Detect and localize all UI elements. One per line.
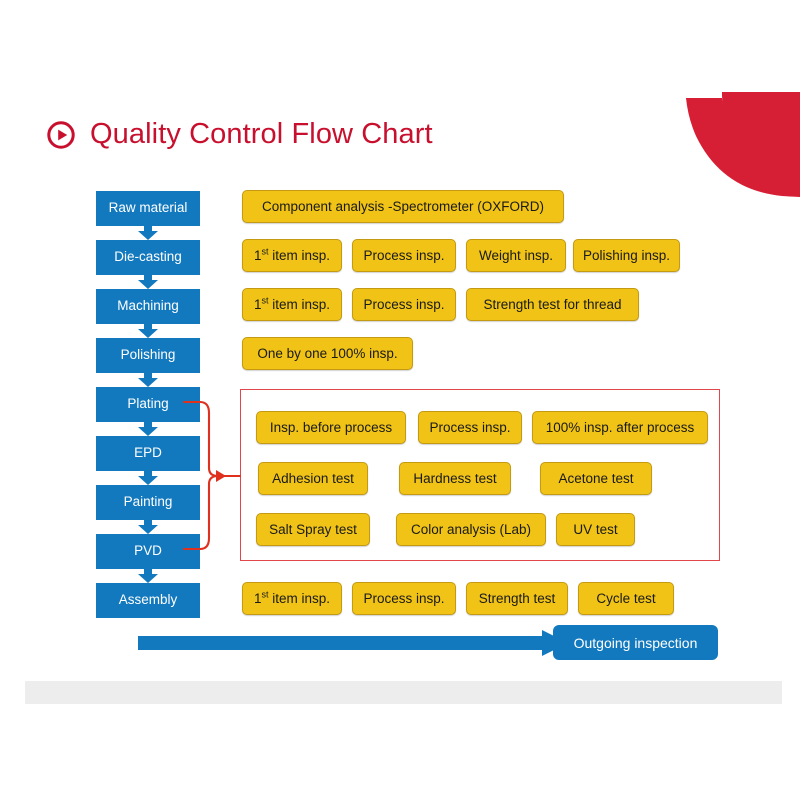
inspection-item: 1st item insp. (242, 582, 342, 615)
outgoing-flow-arrow (138, 630, 568, 656)
flow-down-arrow-icon (96, 569, 200, 583)
process-step-box: Machining (96, 289, 200, 324)
flow-down-arrow-icon (96, 324, 200, 338)
inspection-item: Process insp. (352, 288, 456, 321)
inspection-item-label: Component analysis -Spectrometer (OXFORD… (262, 199, 544, 214)
footer-bar (25, 681, 782, 704)
process-step-box: Die-casting (96, 240, 200, 275)
inspection-item-label: 1st item insp. (254, 248, 330, 263)
inspection-item: Component analysis -Spectrometer (OXFORD… (242, 190, 564, 223)
red-brace-connector (182, 386, 244, 566)
process-step-label: Plating (127, 397, 168, 411)
process-step-label: Die-casting (114, 250, 182, 264)
inspection-item-label: Strength test (479, 591, 556, 606)
process-step-label: PVD (134, 544, 162, 558)
outgoing-inspection-box: Outgoing inspection (553, 625, 718, 660)
inspection-item: Weight insp. (466, 239, 566, 272)
inspection-item: Cycle test (578, 582, 674, 615)
inspection-item: Process insp. (352, 239, 456, 272)
process-step-label: Assembly (119, 593, 178, 607)
process-step-assembly: Assembly (96, 583, 200, 618)
inspection-item-label: Weight insp. (479, 248, 553, 263)
outgoing-inspection-label: Outgoing inspection (574, 635, 698, 651)
process-step-die-casting: Die-casting (96, 240, 200, 289)
page-title-row: Quality Control Flow Chart (46, 118, 433, 151)
play-circle-icon (46, 120, 76, 150)
inspection-item-label: Polishing insp. (583, 248, 670, 263)
flow-down-arrow-icon (96, 275, 200, 289)
flow-down-arrow-icon (96, 373, 200, 387)
process-step-box: Polishing (96, 338, 200, 373)
inspection-item-label: One by one 100% insp. (257, 346, 397, 361)
inspection-item-label: Strength test for thread (483, 297, 621, 312)
coating-test-group-box (240, 389, 720, 561)
inspection-item: One by one 100% insp. (242, 337, 413, 370)
inspection-item: Process insp. (352, 582, 456, 615)
process-step-box: Assembly (96, 583, 200, 618)
red-corner-arc-decoration (682, 92, 800, 197)
process-step-raw-material: Raw material (96, 191, 200, 240)
process-step-box: Raw material (96, 191, 200, 226)
process-step-label: EPD (134, 446, 162, 460)
inspection-item: Strength test (466, 582, 568, 615)
process-step-machining: Machining (96, 289, 200, 338)
inspection-item: Polishing insp. (573, 239, 680, 272)
process-step-label: Polishing (121, 348, 176, 362)
inspection-item-label: Cycle test (596, 591, 655, 606)
inspection-item-label: Process insp. (363, 248, 444, 263)
inspection-item-label: Process insp. (363, 591, 444, 606)
inspection-item: 1st item insp. (242, 288, 342, 321)
process-step-label: Raw material (109, 201, 188, 215)
process-step-polishing: Polishing (96, 338, 200, 387)
flow-down-arrow-icon (96, 226, 200, 240)
page-title: Quality Control Flow Chart (90, 118, 433, 151)
inspection-item-label: Process insp. (363, 297, 444, 312)
slide-canvas: Quality Control Flow Chart Raw materialD… (0, 0, 800, 800)
process-step-label: Painting (124, 495, 173, 509)
inspection-item-label: 1st item insp. (254, 297, 330, 312)
process-step-label: Machining (117, 299, 179, 313)
inspection-item: 1st item insp. (242, 239, 342, 272)
inspection-item: Strength test for thread (466, 288, 639, 321)
inspection-item-label: 1st item insp. (254, 591, 330, 606)
